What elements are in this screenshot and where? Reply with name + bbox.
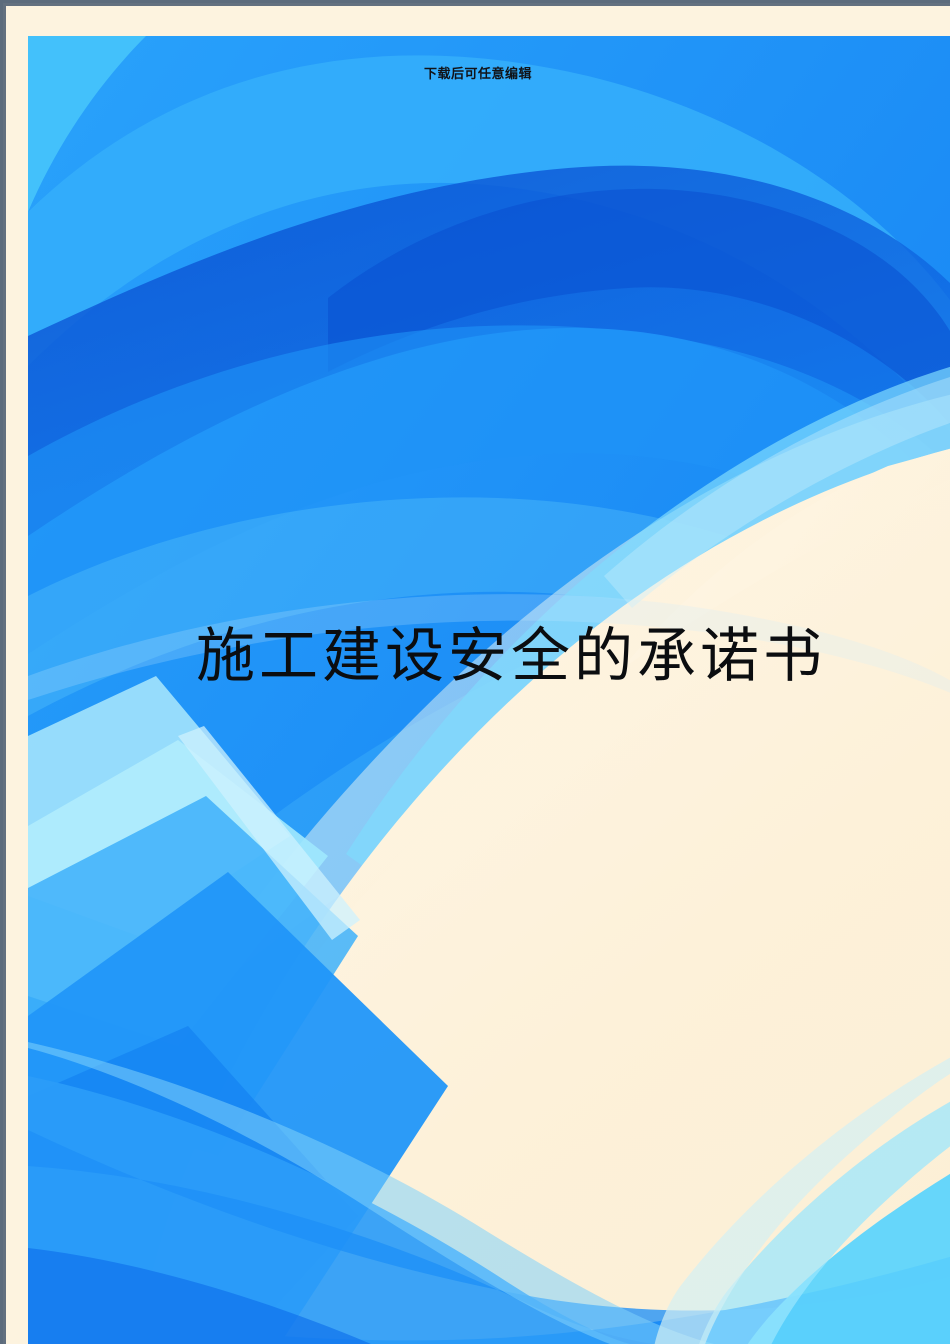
page-border-top (3, 3, 950, 6)
cover-page: 下载后可任意编辑 施工建设安全的承诺书 (0, 0, 950, 1344)
page-border-left (3, 3, 6, 1344)
page-title: 施工建设安全的承诺书 (196, 617, 826, 695)
